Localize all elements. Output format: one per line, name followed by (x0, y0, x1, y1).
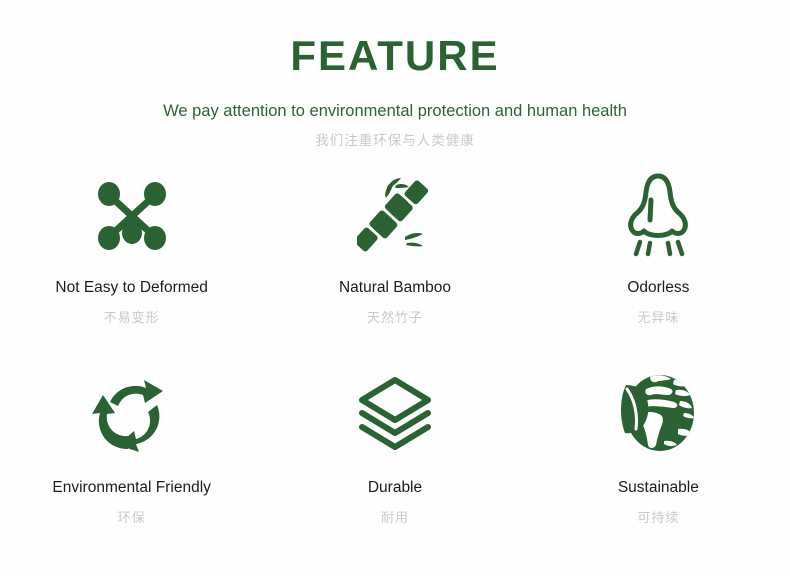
feature-item-not-easy-to-deformed: Not Easy to Deformed 不易变形 (0, 169, 263, 365)
feature-label-chinese: 无异味 (637, 310, 679, 326)
nose-icon (623, 169, 693, 261)
feature-label-chinese: 天然竹子 (367, 310, 423, 326)
bamboo-icon (357, 169, 433, 261)
feature-item-sustainable: Sustainable 可持续 (527, 365, 790, 561)
section-header: FEATURE We pay attention to environmenta… (0, 0, 790, 149)
molecule-lattice-icon (94, 169, 170, 261)
feature-label-english: Natural Bamboo (339, 279, 451, 298)
feature-item-natural-bamboo: Natural Bamboo 天然竹子 (263, 169, 526, 365)
feature-label-english: Environmental Friendly (52, 479, 211, 498)
subtitle-english: We pay attention to environmental protec… (0, 102, 790, 122)
feature-label-english: Not Easy to Deformed (55, 279, 207, 298)
feature-item-durable: Durable 耐用 (263, 365, 526, 561)
feature-section: FEATURE We pay attention to environmenta… (0, 0, 790, 576)
feature-label-chinese: 环保 (118, 510, 146, 526)
feature-label-english: Odorless (627, 279, 689, 298)
feature-label-english: Sustainable (618, 479, 699, 498)
feature-label-chinese: 耐用 (381, 510, 409, 526)
feature-item-odorless: Odorless 无异味 (527, 169, 790, 365)
feature-label-chinese: 可持续 (637, 510, 679, 526)
page-title: FEATURE (0, 34, 790, 78)
feature-label-english: Durable (368, 479, 422, 498)
feature-item-environmental-friendly: Environmental Friendly 环保 (0, 365, 263, 561)
layers-icon (355, 365, 435, 461)
globe-leaf-icon (616, 365, 700, 461)
recycle-icon (90, 365, 174, 461)
feature-grid: Not Easy to Deformed 不易变形 (0, 169, 790, 561)
subtitle-chinese: 我们注重环保与人类健康 (0, 133, 790, 149)
feature-label-chinese: 不易变形 (104, 310, 160, 326)
